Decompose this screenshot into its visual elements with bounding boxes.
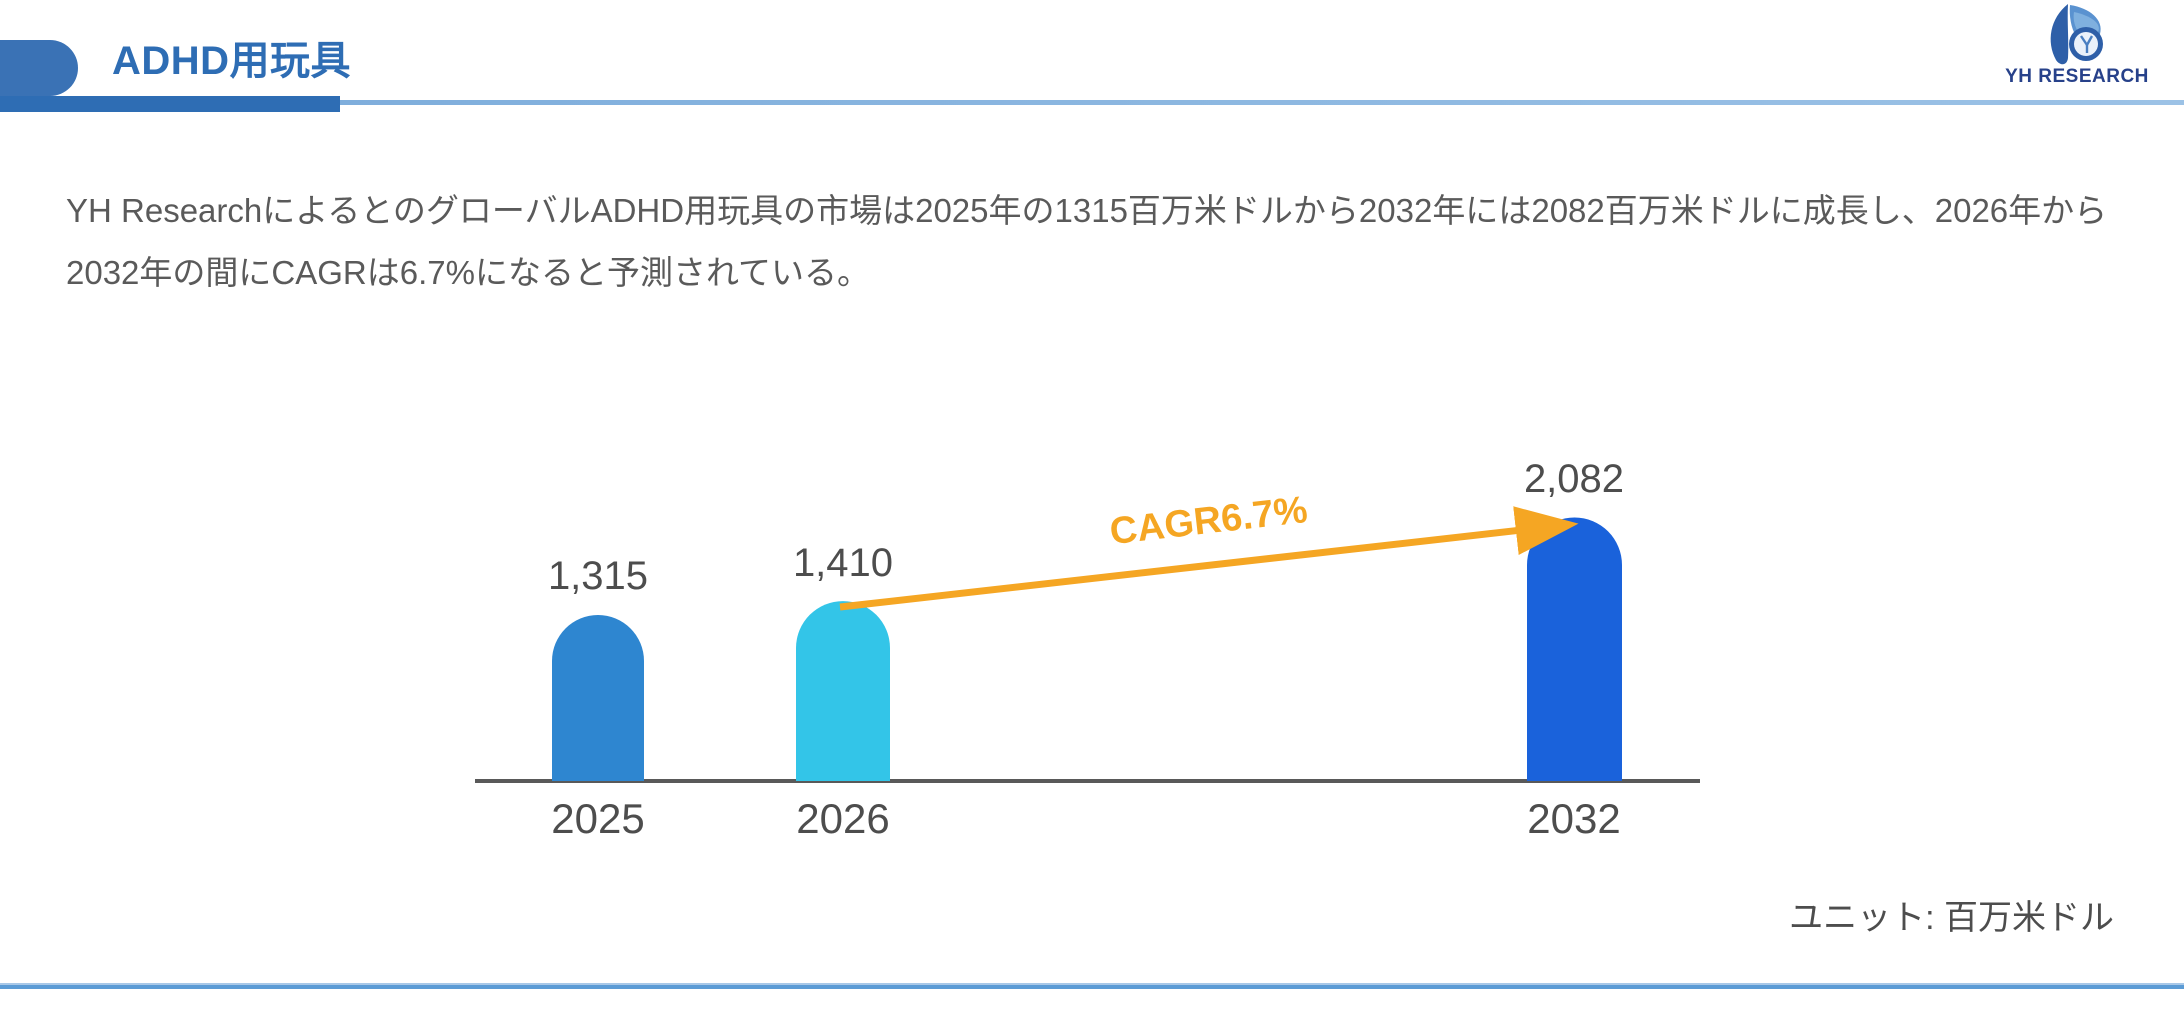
market-size-bar-chart: 1,315 1,410 2,082 CAGR6.7% 2025 2026 203… (0, 0, 2184, 1013)
header-accent-tab (0, 40, 78, 96)
x-tick-label-2032: 2032 (1527, 795, 1620, 842)
bar-2026 (796, 601, 890, 781)
x-tick-label-2026: 2026 (796, 795, 889, 842)
bar-value-label-2025: 1,315 (548, 554, 648, 598)
logo-text: YH RESEARCH (1982, 66, 2172, 88)
slide-header: ADHD用玩具 YH RESEARCH (0, 0, 2184, 134)
logo: YH RESEARCH (1982, 2, 2172, 96)
header-underline-rule (340, 100, 2184, 105)
summary-paragraph: YH ResearchによるとのグローバルADHD用玩具の市場は2025年の13… (66, 180, 2126, 304)
cagr-annotation-label: CAGR6.7% (1108, 489, 1310, 553)
header-underline-bar (0, 96, 340, 112)
bar-value-label-2032: 2,082 (1524, 457, 1624, 501)
yh-research-mark-icon (2034, 2, 2120, 68)
bar-2025 (552, 615, 644, 781)
cagr-arrow (840, 525, 1566, 607)
footer-rule (0, 985, 2184, 989)
unit-label: ユニット: 百万米ドル (1789, 890, 2114, 939)
page-title: ADHD用玩具 (112, 36, 351, 86)
bar-2032 (1527, 518, 1622, 782)
bar-value-label-2026: 1,410 (793, 541, 893, 585)
x-tick-label-2025: 2025 (551, 795, 644, 842)
